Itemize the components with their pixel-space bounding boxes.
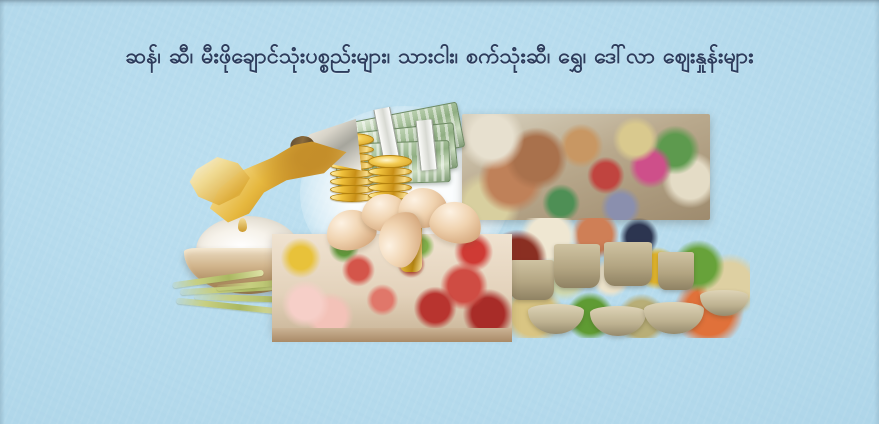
- page-title: ဆန်၊ ဆီ၊ မီးဖိုချောင်သုံးပစ္စည်းများ၊ သာ…: [0, 44, 879, 71]
- cutting-board: [272, 328, 512, 342]
- pulse-bowl: [590, 306, 646, 336]
- banner-image: ဆန်၊ ဆီ၊ မီးဖိုချောင်သုံးပစ္စည်းများ၊ သာ…: [0, 0, 879, 424]
- cooking-oil-pour: [186, 122, 361, 237]
- pulse-bowl: [528, 304, 584, 334]
- pulse-bowl: [644, 302, 704, 334]
- food-price-collage: [0, 98, 879, 356]
- pulse-basket: [604, 242, 652, 286]
- pulses-and-beans: [492, 218, 750, 338]
- pulse-bowl: [700, 290, 748, 316]
- oil-droplet: [238, 218, 247, 232]
- pulse-basket: [554, 244, 600, 288]
- top-edge-shadow: [0, 0, 879, 7]
- pulse-basket: [510, 260, 554, 300]
- pulse-basket: [658, 252, 694, 290]
